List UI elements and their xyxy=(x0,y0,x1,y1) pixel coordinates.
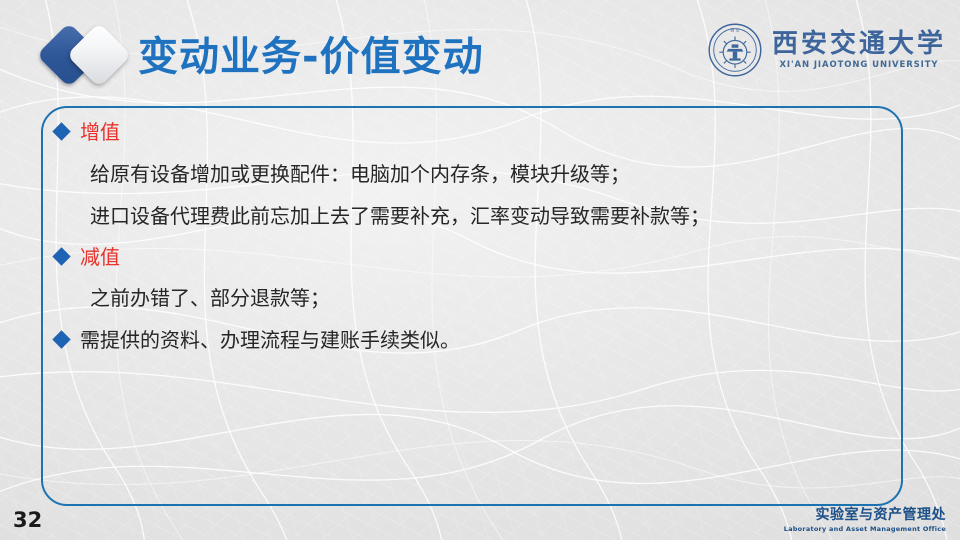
page-number: 32 xyxy=(13,508,42,532)
list-item: 给原有设备增加或更换配件：电脑加个内存条，模块升级等； xyxy=(55,160,895,189)
list-item-label: 减值 xyxy=(80,243,120,272)
double-diamond-logo-icon xyxy=(44,26,136,86)
list-item: 增值 xyxy=(55,118,895,147)
svg-text:西 交: 西 交 xyxy=(730,28,739,33)
diamond-bullet-icon xyxy=(52,247,70,265)
presentation-slide: 变动业务-价值变动 西 交 西安交 xyxy=(0,0,960,540)
diamond-bullet-icon xyxy=(52,122,70,140)
footer-organization: 实验室与资产管理处 Laboratory and Asset Managemen… xyxy=(784,506,946,534)
content-list: 增值 给原有设备增加或更换配件：电脑加个内存条，模块升级等； 进口设备代理费此前… xyxy=(55,118,895,355)
list-item-label: 增值 xyxy=(80,118,120,147)
list-item-label: 进口设备代理费此前忘加上去了需要补充，汇率变动导致需要补款等； xyxy=(90,202,710,231)
list-item-label: 之前办错了、部分退款等； xyxy=(90,284,330,313)
university-name-block: 西安交通大学 XI'AN JIAOTONG UNIVERSITY xyxy=(772,29,946,71)
spacer xyxy=(55,313,895,326)
list-item: 之前办错了、部分退款等； xyxy=(55,284,895,313)
list-item: 进口设备代理费此前忘加上去了需要补充，汇率变动导致需要补款等； xyxy=(55,202,895,231)
slide-header: 变动业务-价值变动 西 交 西安交 xyxy=(0,0,960,104)
spacer xyxy=(55,272,895,284)
list-item-label: 需提供的资料、办理流程与建账手续类似。 xyxy=(80,326,460,355)
footer-org-name-en: Laboratory and Asset Management Office xyxy=(784,524,946,534)
spacer xyxy=(55,189,895,202)
list-item: 减值 xyxy=(55,243,895,272)
xjtu-seal-icon: 西 交 xyxy=(707,22,763,78)
university-name-cn: 西安交通大学 xyxy=(772,29,946,59)
diamond-bullet-icon xyxy=(52,330,70,348)
page-title: 变动业务-价值变动 xyxy=(138,30,484,84)
list-item-label: 给原有设备增加或更换配件：电脑加个内存条，模块升级等； xyxy=(90,160,630,189)
university-logo: 西 交 西安交通大学 XI'AN JIAOTONG UNIVERSITY xyxy=(707,22,946,78)
university-name-en: XI'AN JIAOTONG UNIVERSITY xyxy=(779,59,938,71)
spacer xyxy=(55,231,895,243)
list-item: 需提供的资料、办理流程与建账手续类似。 xyxy=(55,326,895,355)
footer-org-name-cn: 实验室与资产管理处 xyxy=(784,506,946,524)
spacer xyxy=(55,147,895,160)
